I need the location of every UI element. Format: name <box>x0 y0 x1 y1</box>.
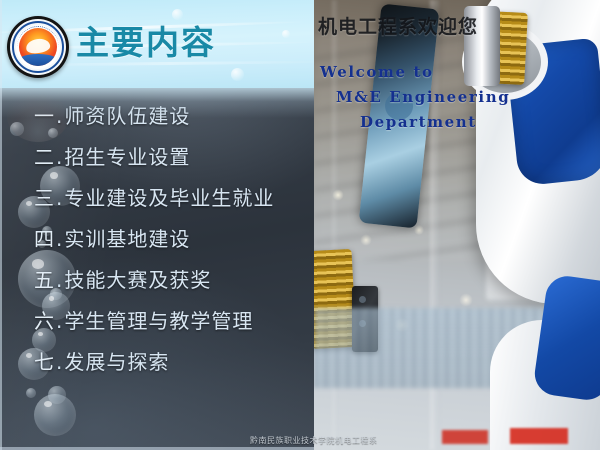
toc-item-label: 学生管理与教学管理 <box>64 309 253 333</box>
toc-item-number: 一 <box>34 104 55 128</box>
toc-item[interactable]: 七.发展与探索 <box>0 342 314 383</box>
bubble-decoration <box>231 68 244 81</box>
toc-item-separator: . <box>55 104 64 128</box>
toc-item[interactable]: 六.学生管理与教学管理 <box>0 301 314 342</box>
toc-item-label: 招生专业设置 <box>64 145 190 169</box>
toc-item[interactable]: 五.技能大赛及获奖 <box>0 260 314 301</box>
left-content-panel: 一.师资队伍建设 二.招生专业设置 三.专业建设及毕业生就业 四.实训基地建设 … <box>0 0 314 450</box>
toc-item-separator: . <box>55 268 64 292</box>
toc-item-separator: . <box>55 309 64 333</box>
toc-item-number: 四 <box>34 227 55 251</box>
photo-chinese-welcome-text: 机电工程系欢迎您 <box>318 12 478 39</box>
bubble-decoration <box>282 30 290 38</box>
toc-item[interactable]: 四.实训基地建设 <box>0 219 314 260</box>
toc-item[interactable]: 一.师资队伍建设 <box>0 96 314 137</box>
toc-item-number: 五 <box>34 268 55 292</box>
toc-item-separator: . <box>55 145 64 169</box>
toc-item-label: 实训基地建设 <box>64 227 190 251</box>
blurred-red-sign <box>442 430 488 444</box>
table-of-contents: 一.师资队伍建设 二.招生专业设置 三.专业建设及毕业生就业 四.实训基地建设 … <box>0 96 314 383</box>
presentation-slide: 一.师资队伍建设 二.招生专业设置 三.专业建设及毕业生就业 四.实训基地建设 … <box>0 0 600 450</box>
toc-item[interactable]: 三.专业建设及毕业生就业 <box>0 178 314 219</box>
toc-item-number: 七 <box>34 350 55 374</box>
toc-item-label: 发展与探索 <box>64 350 169 374</box>
blurred-red-sign <box>510 428 568 444</box>
page-title: 主要内容 <box>76 16 216 64</box>
school-logo-icon <box>7 16 69 78</box>
welcome-line-1: Welcome to <box>320 63 434 81</box>
photo-english-welcome-text: Welcome to M&E Engineering Department <box>320 60 510 135</box>
toc-item-label: 技能大赛及获奖 <box>64 268 211 292</box>
toc-item-separator: . <box>55 350 64 374</box>
toc-item-separator: . <box>55 186 64 210</box>
toc-item-number: 六 <box>34 309 55 333</box>
welcome-line-3: Department <box>320 110 510 135</box>
toc-item[interactable]: 二.招生专业设置 <box>0 137 314 178</box>
toc-item-number: 二 <box>34 145 55 169</box>
slide-left-edge <box>0 0 2 450</box>
welcome-line-2: M&E Engineering <box>320 85 510 110</box>
toc-item-label: 专业建设及毕业生就业 <box>64 186 274 210</box>
footer-caption: 黔南民族职业技术学院机电工程系 <box>250 435 378 446</box>
robotics-photo-panel: 机电工程系欢迎您 Welcome to M&E Engineering Depa… <box>314 0 600 450</box>
toc-item-separator: . <box>55 227 64 251</box>
toc-item-number: 三 <box>34 186 55 210</box>
toc-item-label: 师资队伍建设 <box>64 104 190 128</box>
